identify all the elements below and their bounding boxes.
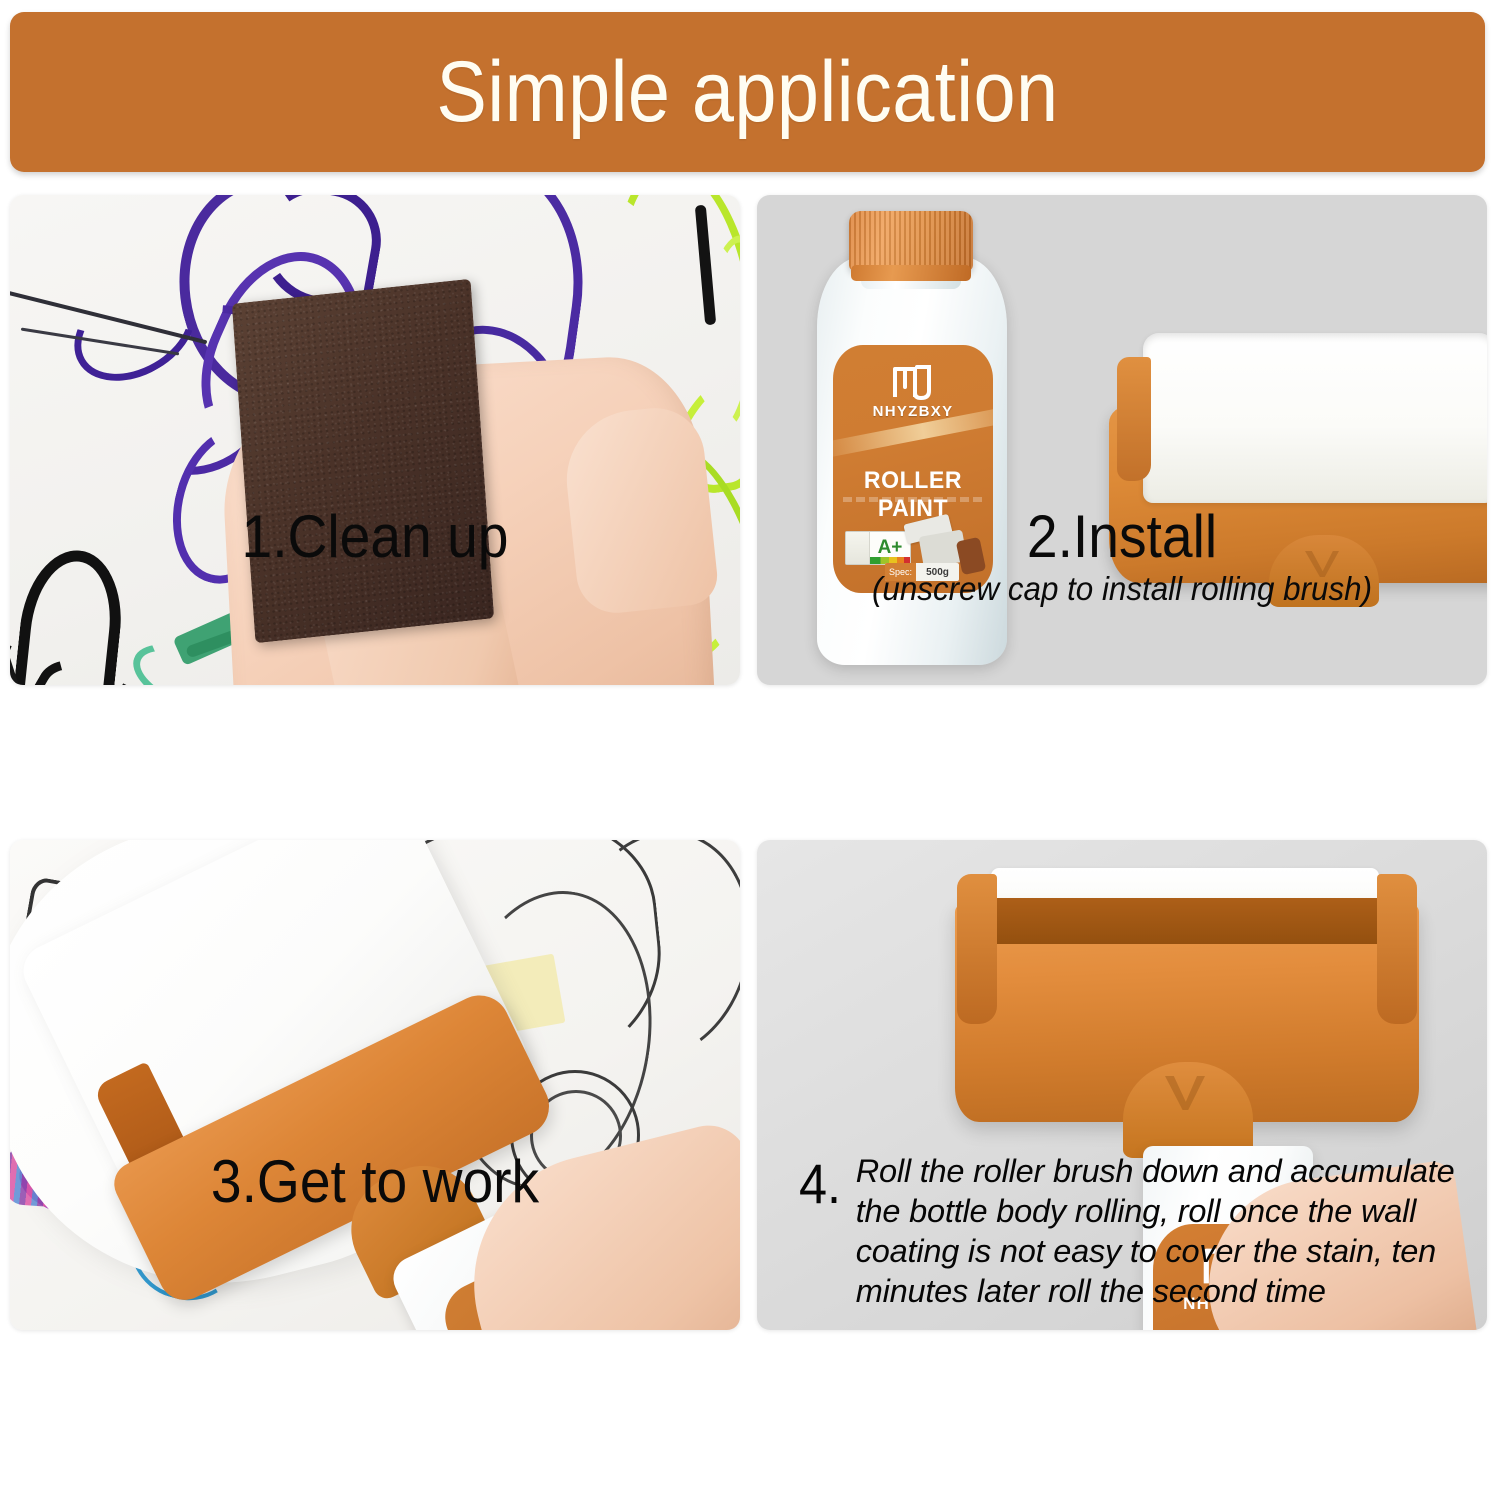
step-1-panel [10,195,740,685]
step-1-caption: 1.Clean up [10,505,740,568]
label-fineprint [843,497,983,502]
step-3-caption-text: 3.Get to work [39,1150,711,1213]
roller-cap-left [1117,357,1151,481]
brand-name: NHYZBXY [833,403,993,420]
step-2-subcaption-text: (unscrew cap to install rolling brush) [775,570,1469,608]
step-4-caption-text: Roll the roller brush down and accumulat… [856,1152,1495,1312]
step-3-caption: 3.Get to work [10,1150,740,1213]
step-2-caption: 2.Install (unscrew cap to install rollin… [757,505,1487,608]
roller-cap-right [1377,874,1417,1024]
step-1-caption-text: 1.Clean up [39,505,711,568]
step-2-caption-text: 2.Install [786,505,1458,568]
step-1-photo [10,195,740,685]
brand-logo-icon [889,361,937,401]
header-banner: Simple application [10,12,1485,172]
roller-cap-left [957,874,997,1024]
sanding-sponge [232,279,494,643]
step-3-photo: NHYZBXY ROLLER PAINT [10,840,740,1330]
roller-sleeve [1143,333,1487,503]
step-2-panel: NHYZBXY ROLLER PAINT A+ Spec: 500g [757,195,1487,685]
step-3-panel: NHYZBXY ROLLER PAINT [10,840,740,1330]
bottle-cap [849,211,973,271]
step-4-caption: 4. Roll the roller brush down and accumu… [757,1152,1495,1312]
page-title: Simple application [436,49,1058,135]
step-4-number: 4. [799,1152,841,1212]
step-2-photo: NHYZBXY ROLLER PAINT A+ Spec: 500g [757,195,1487,685]
